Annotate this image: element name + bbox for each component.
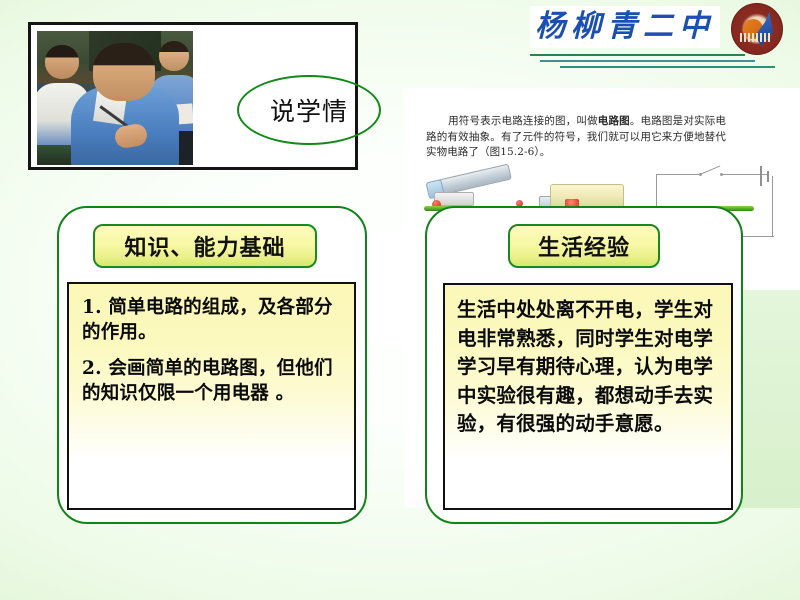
realistic-lamp-icon [436,164,512,196]
scan-paragraph-bold: 电路图 [598,115,630,127]
section-title-ellipse: 说学情 [237,75,381,145]
photo-main-student-head [93,43,155,101]
header-rule-top [530,54,745,56]
section-title-label: 说学情 [270,92,348,128]
card-life-experience-textblock: 生活中处处离不开电，学生对电非常熟悉，同时学生对电学学习早有期待心理，认为电学中… [443,283,733,510]
classroom-photo [37,31,193,165]
header-rule-bottom [560,66,775,68]
school-emblem-icon [731,3,783,55]
photo-student-right-head [159,41,189,71]
switch-dot-icon [699,173,702,176]
card-life-experience-title: 生活经验 [538,230,630,262]
header-rule-middle [540,60,755,62]
photo-student-left-head [45,45,79,79]
card-knowledge-basis-title-pill: 知识、能力基础 [93,224,317,268]
school-name-label: 杨柳青二中 [530,6,720,48]
scan-paragraph: 用符号表示电路连接的图，叫做电路图。电路图是对实际电路的有效抽象。有了元件的符号… [426,114,726,161]
switch-dot-icon [720,173,723,176]
battery-symbol-short-plate-icon [767,171,769,182]
photo-frame: 说学情 [28,22,358,170]
card-knowledge-basis-title: 知识、能力基础 [124,230,285,262]
card-life-experience-title-pill: 生活经验 [508,224,660,268]
wire-right-vertical [772,176,773,237]
battery-symbol-long-plate-icon [760,166,762,186]
scan-paragraph-part1: 用符号表示电路连接的图，叫做 [448,115,598,127]
wire-top-left [656,174,702,175]
realistic-battery-icon [550,184,624,208]
card-knowledge-basis-textblock: 1. 简单电路的组成，及各部分的作用。 2. 会画简单的电路图，但他们的知识仅限… [67,282,356,510]
school-name-plate: 杨柳青二中 [530,6,720,48]
slide-canvas: 用符号表示电路连接的图，叫做电路图。电路图是对实际电路的有效抽象。有了元件的符号… [0,0,800,600]
knowledge-item-1: 1. 简单电路的组成，及各部分的作用。 [82,295,344,345]
switch-symbol-icon [700,165,721,175]
knowledge-item-2: 2. 会画简单的电路图，但他们的知识仅限一个用电器 。 [82,356,344,406]
life-experience-body: 生活中处处离不开电，学生对电非常熟悉，同时学生对电学学习早有期待心理，认为电学中… [457,296,721,439]
